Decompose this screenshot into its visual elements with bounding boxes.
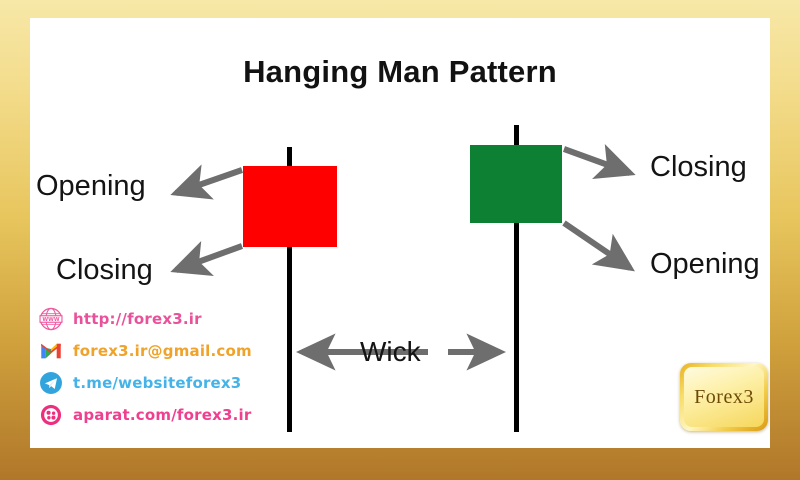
arrow-right-opening [564, 223, 630, 268]
contact-row-aparat[interactable]: aparat.com/forex3.ir [38, 402, 252, 428]
poster-frame: Hanging Man Pattern [0, 0, 800, 480]
contact-links: WWW http://forex3.ir forex3.ir@gmail.com [38, 306, 252, 428]
contact-text-telegram: t.me/websiteforex3 [73, 374, 241, 392]
www-globe-icon: WWW [38, 306, 64, 332]
contact-text-website: http://forex3.ir [73, 310, 202, 328]
page-title: Hanging Man Pattern [30, 54, 770, 90]
arrow-right-closing [564, 149, 630, 173]
bullish-candle-body [470, 145, 562, 223]
label-right-opening: Opening [650, 248, 760, 281]
label-left-closing: Closing [56, 254, 153, 287]
contact-row-telegram[interactable]: t.me/websiteforex3 [38, 370, 252, 396]
forex3-logo-badge[interactable]: Forex3 [680, 363, 768, 431]
contact-row-email[interactable]: forex3.ir@gmail.com [38, 338, 252, 364]
diagram-canvas: Hanging Man Pattern [30, 18, 770, 448]
arrow-left-opening [176, 170, 242, 193]
svg-text:WWW: WWW [42, 317, 59, 323]
bearish-candle-body [243, 166, 337, 247]
label-left-opening: Opening [36, 170, 146, 203]
gmail-icon [38, 338, 64, 364]
logo-inner-plate: Forex3 [684, 367, 764, 427]
contact-row-website[interactable]: WWW http://forex3.ir [38, 306, 252, 332]
logo-text: Forex3 [694, 386, 754, 409]
arrow-left-closing [176, 246, 242, 270]
label-right-closing: Closing [650, 151, 747, 184]
aparat-icon [38, 402, 64, 428]
contact-text-aparat: aparat.com/forex3.ir [73, 406, 251, 424]
telegram-icon [38, 370, 64, 396]
label-wick: Wick [360, 336, 421, 368]
contact-text-email: forex3.ir@gmail.com [73, 342, 252, 360]
